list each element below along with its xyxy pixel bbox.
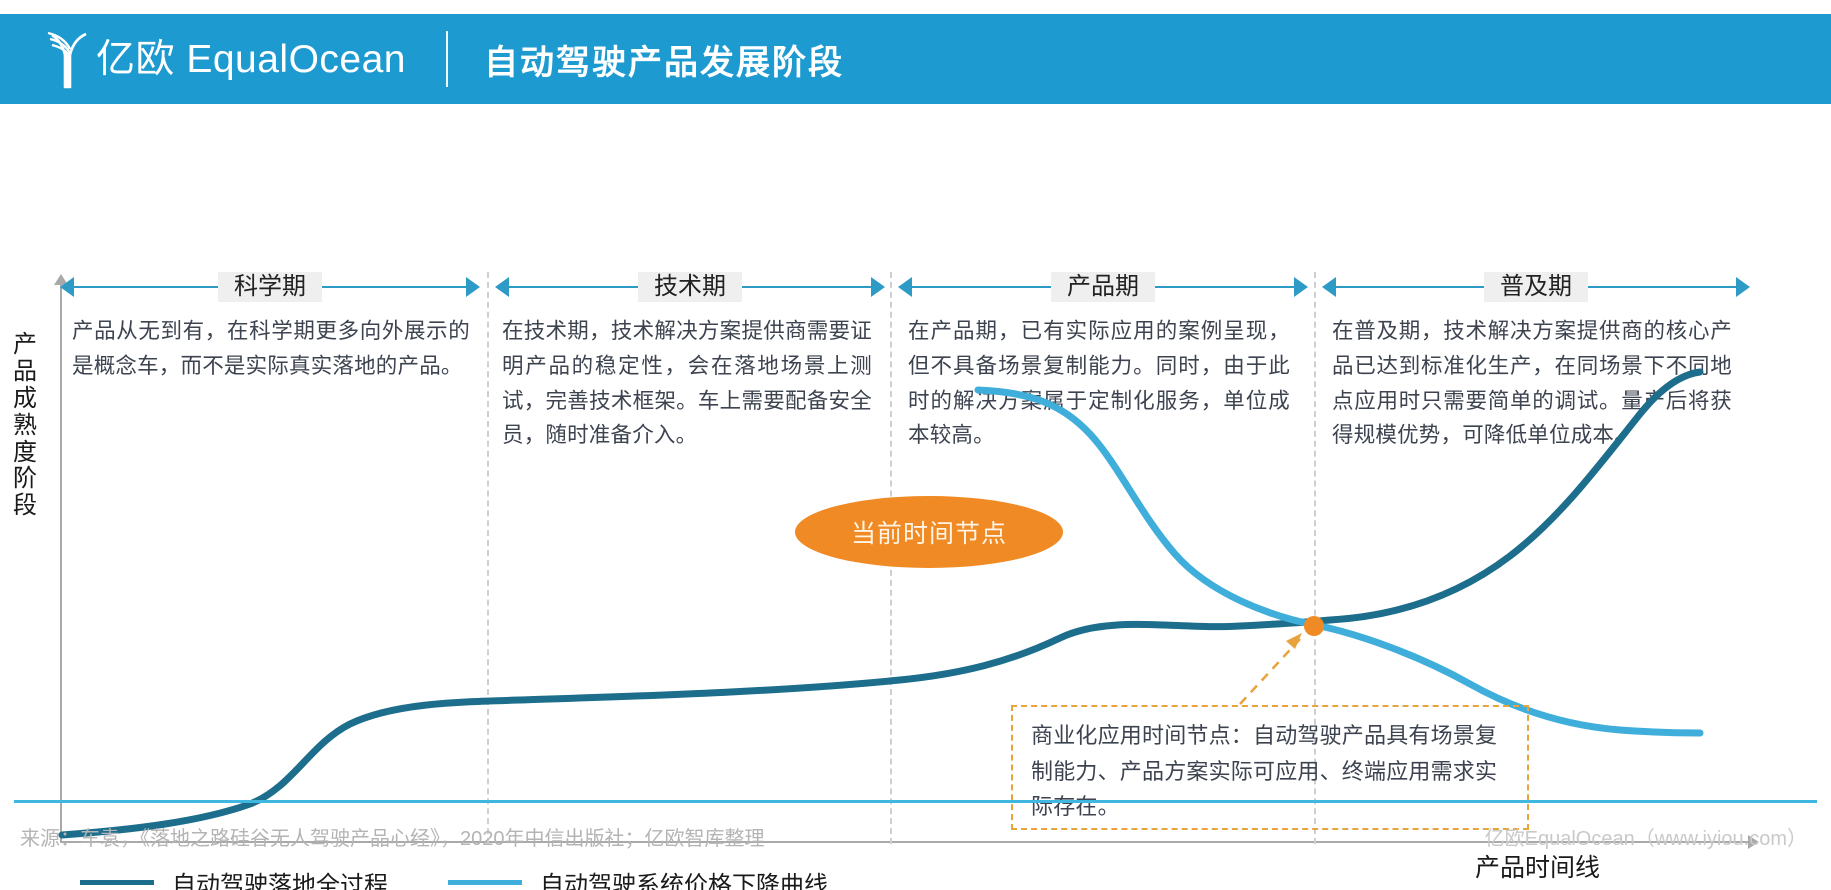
series-path-price xyxy=(978,390,1700,733)
callout-leader-line xyxy=(1240,639,1300,704)
current-node-pill: 当前时间节点 xyxy=(795,496,1063,568)
chart-curves xyxy=(0,104,1831,790)
page-footer: 来源：车袁，《落地之路硅谷无人驾驶产品心经》，2020年中信出版社；亿欧智库整理… xyxy=(0,816,1831,876)
callout-box: 商业化应用时间节点：自动驾驶产品具有场景复制能力、产品方案实际可应用、终端应用需… xyxy=(1011,705,1529,830)
footer-source-text: 来源：车袁，《落地之路硅谷无人驾驶产品心经》，2020年中信出版社；亿欧智库整理 xyxy=(20,822,765,851)
header-divider xyxy=(446,31,448,87)
current-node-marker xyxy=(1304,616,1324,636)
legend-swatch-icon-1 xyxy=(448,880,522,885)
brand-logo: 亿欧 EqualOcean xyxy=(44,29,406,89)
footer-divider xyxy=(14,800,1817,803)
brand-logo-text: 亿欧 EqualOcean xyxy=(96,40,406,79)
chart-area: 产品成熟度阶段 产品时间线 科学期 产品从无到有，在科学期更多向外展示的是概念车… xyxy=(0,104,1831,790)
footer-brand-text: 亿欧EqualOcean（www.iyiou.com） xyxy=(1485,822,1807,851)
infographic-page: 亿欧 EqualOcean 自动驾驶产品发展阶段 产品成熟度阶段 产品时间线 科… xyxy=(0,0,1831,890)
callout-text: 商业化应用时间节点：自动驾驶产品具有场景复制能力、产品方案实际可应用、终端应用需… xyxy=(1031,718,1517,825)
equalocean-leaf-logo-icon xyxy=(44,29,90,89)
page-title: 自动驾驶产品发展阶段 xyxy=(484,35,844,84)
legend-swatch-icon-0 xyxy=(80,880,154,885)
page-header: 亿欧 EqualOcean 自动驾驶产品发展阶段 xyxy=(0,14,1831,104)
